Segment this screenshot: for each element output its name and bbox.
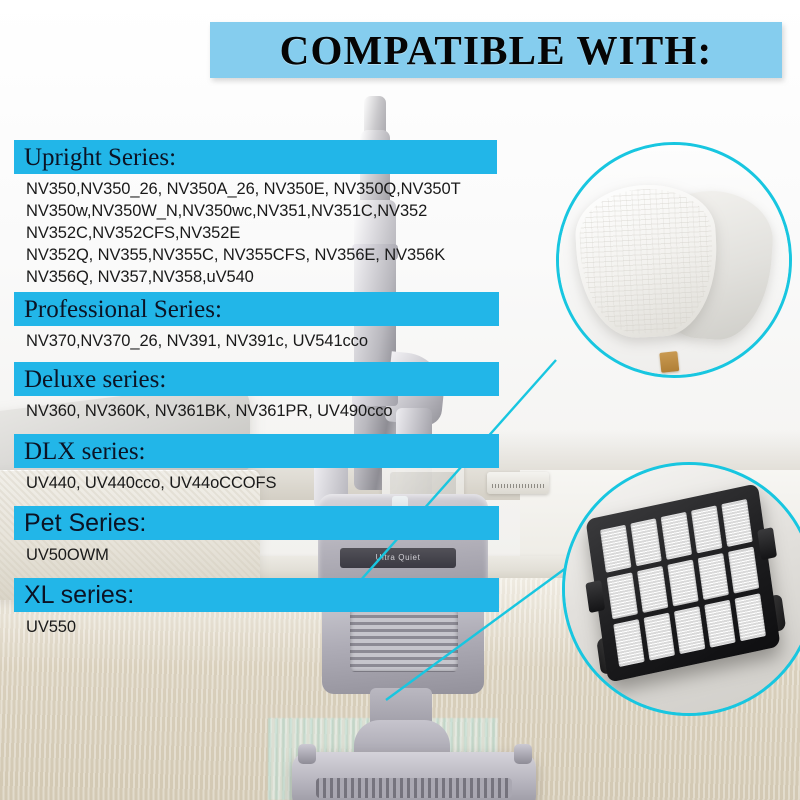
hepa-pleat-cell [667,559,698,607]
hepa-pleat-cell [704,600,735,648]
section-title: Pet Series: [24,511,146,536]
hepa-pleat-cell [607,572,638,620]
page-title: COMPATIBLE WITH: [210,22,782,78]
spacer [14,426,514,434]
hepa-pleat-cell [613,619,644,667]
hepa-pleat-cell [644,613,675,661]
section-header-pet-series: Pet Series: [14,506,499,540]
section-header-upright-series: Upright Series: [14,140,497,174]
compatibility-list: Upright Series: NV350,NV350_26, NV350A_2… [14,140,514,642]
section-models-deluxe-series: NV360, NV360K, NV361BK, NV361PR, UV490cc… [14,396,514,426]
model-line: NV350,NV350_26, NV350A_26, NV350E, NV350… [26,178,514,200]
section-title: Upright Series: [24,145,176,170]
spacer [14,570,514,578]
section-models-professional-series: NV370,NV370_26, NV391, NV391c, UV541cco [14,326,514,356]
section-models-pet-series: UV50OWM [14,540,514,570]
hepa-pleat-cell [674,606,705,654]
model-line: NV370,NV370_26, NV391, NV391c, UV541cco [26,330,514,352]
title-banner: COMPATIBLE WITH: [210,22,782,78]
hepa-pleat-cell [691,505,722,553]
hepa-pleat-cell [637,566,668,614]
section-models-upright-series: NV350,NV350_26, NV350A_26, NV350E, NV350… [14,174,514,292]
hepa-pleat-cell [698,553,729,601]
infographic-canvas: Ultra Quiet [0,0,800,800]
hepa-pleat-cell [600,525,631,573]
section-title: XL series: [24,583,134,608]
spacer [14,498,514,506]
model-line: NV352Q, NV355,NV355C, NV355CFS, NV356E, … [26,244,514,266]
section-header-deluxe-series: Deluxe series: [14,362,499,396]
callout-foam-filter [556,142,792,378]
section-header-xl-series: XL series: [14,578,499,612]
model-line: NV350w,NV350W_N,NV350wc,NV351,NV351C,NV3… [26,200,514,222]
model-line: NV356Q, NV357,NV358,uV540 [26,266,514,288]
model-line: UV50OWM [26,544,514,566]
vacuum-wheel-left [298,744,316,764]
vacuum-wheel-right [514,744,532,764]
section-models-dlx-series: UV440, UV440cco, UV44oCCOFS [14,468,514,498]
section-header-dlx-series: DLX series: [14,434,499,468]
foam-filter-tab [659,351,679,373]
model-line: NV360, NV360K, NV361BK, NV361PR, UV490cc… [26,400,514,422]
model-line: UV550 [26,616,514,638]
section-title: DLX series: [24,439,146,464]
section-title: Professional Series: [24,297,222,322]
hepa-pleat-cell [661,512,692,560]
callout-hepa-filter-image [565,465,800,713]
hepa-pleat-cell [630,518,661,566]
callout-foam-filter-image [559,145,789,375]
callout-hepa-filter [562,462,800,716]
section-header-professional-series: Professional Series: [14,292,499,326]
vacuum-brush-roll [316,778,512,798]
section-title: Deluxe series: [24,367,166,392]
model-line: UV440, UV440cco, UV44oCCOFS [26,472,514,494]
model-line: NV352C,NV352CFS,NV352E [26,222,514,244]
section-models-xl-series: UV550 [14,612,514,642]
